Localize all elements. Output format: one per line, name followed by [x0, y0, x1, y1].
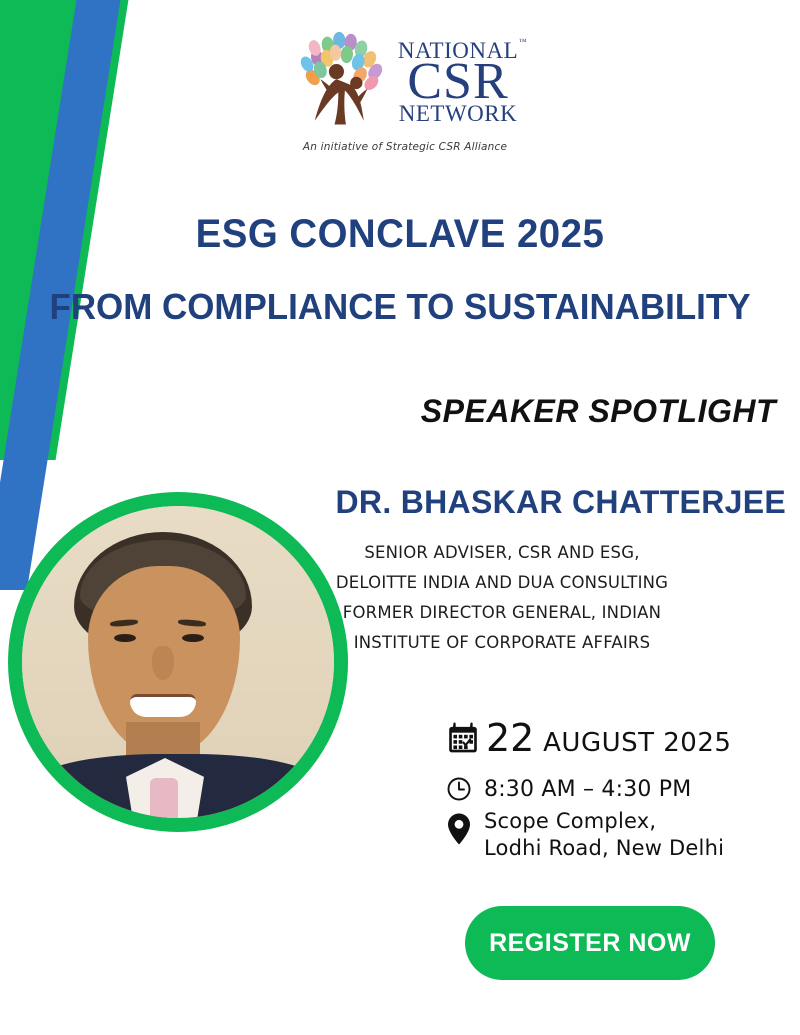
logo-line-csr: CSR [407, 58, 508, 106]
register-now-button[interactable]: REGISTER NOW [465, 906, 715, 980]
location-pin-icon [446, 808, 484, 846]
brand-logo: NATIONAL™ CSR NETWORK An initiative of S… [285, 28, 525, 156]
event-venue-row: Scope Complex, Lodhi Road, New Delhi [446, 808, 776, 862]
logo-line-network: NETWORK [399, 103, 517, 124]
logo-national-text: NATIONAL [398, 38, 518, 63]
event-details: 22 AUGUST 2025 8:30 AM – 4:30 PM Scope C… [446, 716, 776, 862]
clock-icon [446, 776, 484, 802]
portrait-eye-left [114, 634, 136, 642]
event-poster: NATIONAL™ CSR NETWORK An initiative of S… [0, 0, 800, 1035]
speaker-name: DR. BHASKAR CHATTERJEE [336, 484, 786, 521]
portrait-nose [152, 646, 174, 680]
portrait-eye-right [182, 634, 204, 642]
event-time-row: 8:30 AM – 4:30 PM [446, 776, 776, 802]
portrait-tie [150, 778, 178, 818]
speaker-portrait-ring [8, 492, 348, 832]
venue-line-1: Scope Complex, [484, 809, 656, 833]
page-title: ESG CONCLAVE 2025 [16, 212, 784, 257]
event-venue: Scope Complex, Lodhi Road, New Delhi [484, 808, 724, 862]
speaker-portrait-photo [22, 506, 334, 818]
venue-line-2: Lodhi Road, New Delhi [484, 836, 724, 860]
logo-row: NATIONAL™ CSR NETWORK [285, 28, 525, 136]
tree-of-handprints-icon [292, 30, 396, 134]
logo-wordmark: NATIONAL™ CSR NETWORK [398, 40, 518, 124]
logo-tagline: An initiative of Strategic CSR Alliance [303, 141, 507, 153]
event-date-row: 22 AUGUST 2025 [446, 716, 776, 760]
trademark-symbol: ™ [519, 38, 527, 45]
event-date-day: 22 [486, 716, 534, 760]
portrait-mouth [130, 694, 196, 717]
event-date-month-year: AUGUST 2025 [534, 728, 731, 758]
page-subtitle: FROM COMPLIANCE TO SUSTAINABILITY [12, 286, 788, 328]
event-date: 22 AUGUST 2025 [486, 716, 731, 760]
logo-line-national: NATIONAL™ [398, 40, 518, 61]
speaker-spotlight-heading: SPEAKER SPOTLIGHT [421, 393, 776, 430]
event-time: 8:30 AM – 4:30 PM [484, 777, 691, 802]
calendar-icon [446, 721, 486, 755]
